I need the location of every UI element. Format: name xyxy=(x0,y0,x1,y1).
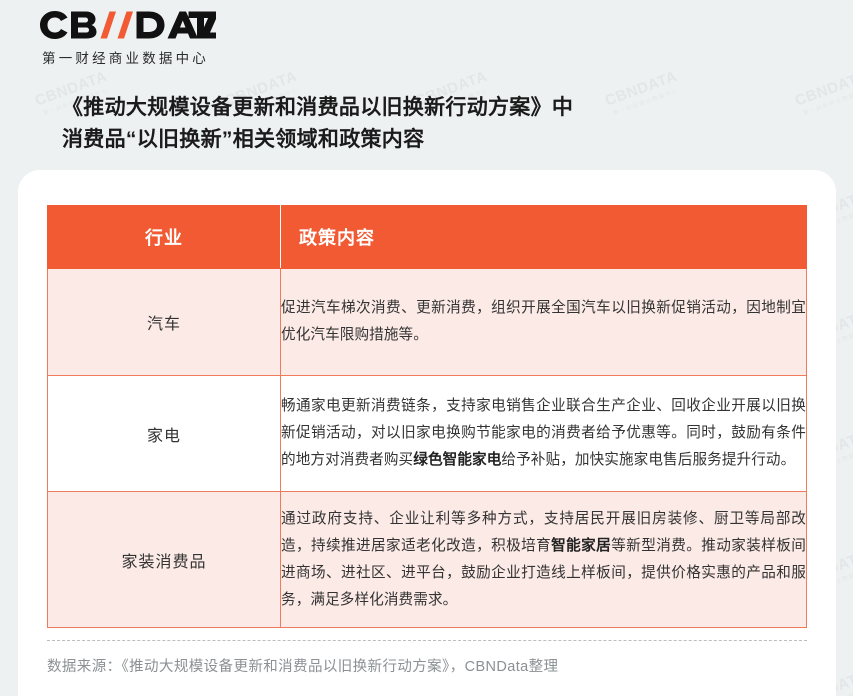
policy-text: 给予补贴，加快实施家电售后服务提升行动。 xyxy=(501,452,795,468)
cell-industry: 家装消费品 xyxy=(48,492,281,628)
table-header: 行业 政策内容 xyxy=(48,206,807,269)
table-header-row: 行业 政策内容 xyxy=(48,206,807,269)
policy-text: 促进汽车梯次消费、更新消费，组织开展全国汽车以旧换新促销活动，因地制宜优化汽车限… xyxy=(281,300,806,343)
table-body: 汽车促进汽车梯次消费、更新消费，组织开展全国汽车以旧换新促销活动，因地制宜优化汽… xyxy=(48,269,807,628)
watermark-brand: CBNDATA xyxy=(793,68,853,110)
watermark-subtitle: 第一财经商业数据中心 xyxy=(799,85,853,118)
watermark-subtitle: 第一财经商业数据中心 xyxy=(609,85,683,118)
page-title-line-1: 《推动大规模设备更新和消费品以旧换新行动方案》中 xyxy=(62,92,573,124)
footer-divider xyxy=(47,640,807,641)
column-header-industry: 行业 xyxy=(48,206,281,269)
logo-wordmark-icon xyxy=(40,10,216,40)
watermark-text: CBNDATA第一财经商业数据中心 xyxy=(603,68,683,118)
watermark-text: CBNDATA第一财经商业数据中心 xyxy=(793,68,853,118)
watermark-brand: CBNDATA xyxy=(603,68,680,110)
logo-subtitle: 第一财经商业数据中心 xyxy=(40,47,216,67)
policy-highlight-term: 绿色智能家电 xyxy=(413,452,501,468)
page-header: 第一财经商业数据中心 xyxy=(40,10,216,67)
page-title: 《推动大规模设备更新和消费品以旧换新行动方案》中 消费品“以旧换新”相关领域和政… xyxy=(62,92,573,156)
table-row: 汽车促进汽车梯次消费、更新消费，组织开展全国汽车以旧换新促销活动，因地制宜优化汽… xyxy=(48,269,807,376)
column-header-policy: 政策内容 xyxy=(281,206,807,269)
cell-policy: 畅通家电更新消费链条，支持家电销售企业联合生产企业、回收企业开展以旧换新促销活动… xyxy=(281,376,807,492)
table-row: 家装消费品通过政府支持、企业让利等多种方式，支持居民开展旧房装修、厨卫等局部改造… xyxy=(48,492,807,628)
cell-policy: 通过政府支持、企业让利等多种方式，支持居民开展旧房装修、厨卫等局部改造，持续推进… xyxy=(281,492,807,628)
cell-policy: 促进汽车梯次消费、更新消费，组织开展全国汽车以旧换新促销活动，因地制宜优化汽车限… xyxy=(281,269,807,376)
page-title-line-2: 消费品“以旧换新”相关领域和政策内容 xyxy=(62,124,573,156)
cbndata-logo xyxy=(40,10,216,40)
cell-industry: 汽车 xyxy=(48,269,281,376)
policy-table: 行业 政策内容 汽车促进汽车梯次消费、更新消费，组织开展全国汽车以旧换新促销活动… xyxy=(47,205,807,628)
cell-industry: 家电 xyxy=(48,376,281,492)
policy-highlight-term: 智能家居 xyxy=(551,538,611,554)
content-card: 行业 政策内容 汽车促进汽车梯次消费、更新消费，组织开展全国汽车以旧换新促销活动… xyxy=(18,170,836,696)
footer-source-note: 数据来源：《推动大规模设备更新和消费品以旧换新行动方案》，CBNData整理 xyxy=(47,645,827,685)
table-row: 家电畅通家电更新消费链条，支持家电销售企业联合生产企业、回收企业开展以旧换新促销… xyxy=(48,376,807,492)
